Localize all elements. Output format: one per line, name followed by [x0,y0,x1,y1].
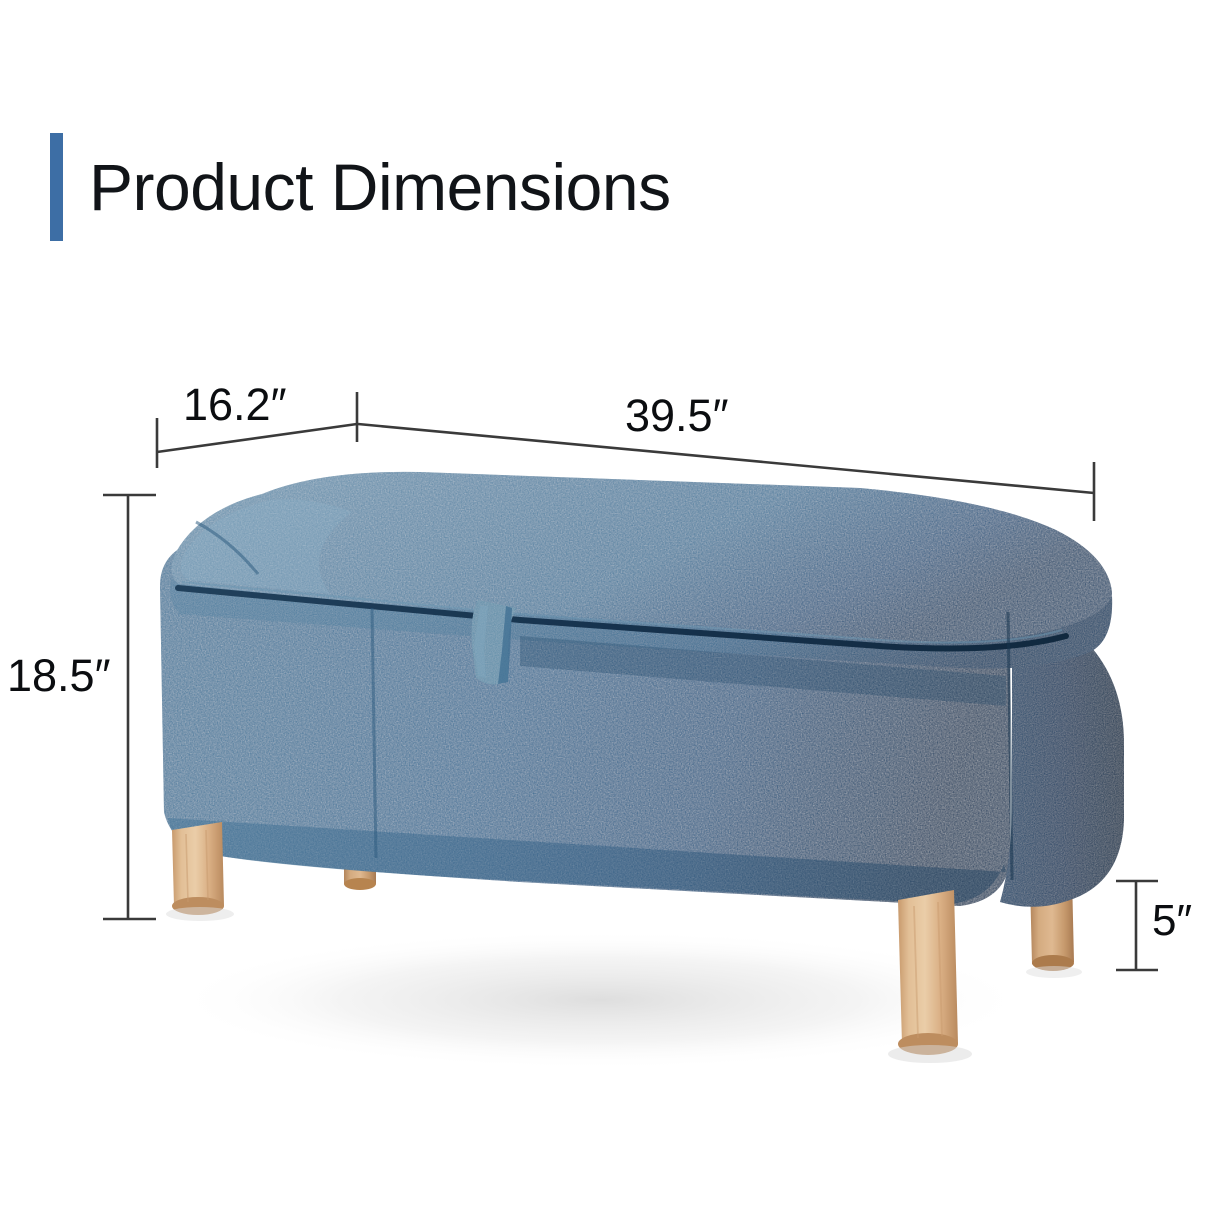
bench-body [160,472,1124,907]
dimension-line-leg-height [1116,881,1158,970]
dimension-line-depth [157,392,357,468]
leg-front-left [172,822,224,915]
product-illustration [0,0,1208,1208]
dimension-line-height [103,495,156,919]
product-dimensions-page: Product Dimensions 16.2″ 39.5″ 18.5″ 5″ [0,0,1208,1208]
leg-front-right [898,890,958,1055]
